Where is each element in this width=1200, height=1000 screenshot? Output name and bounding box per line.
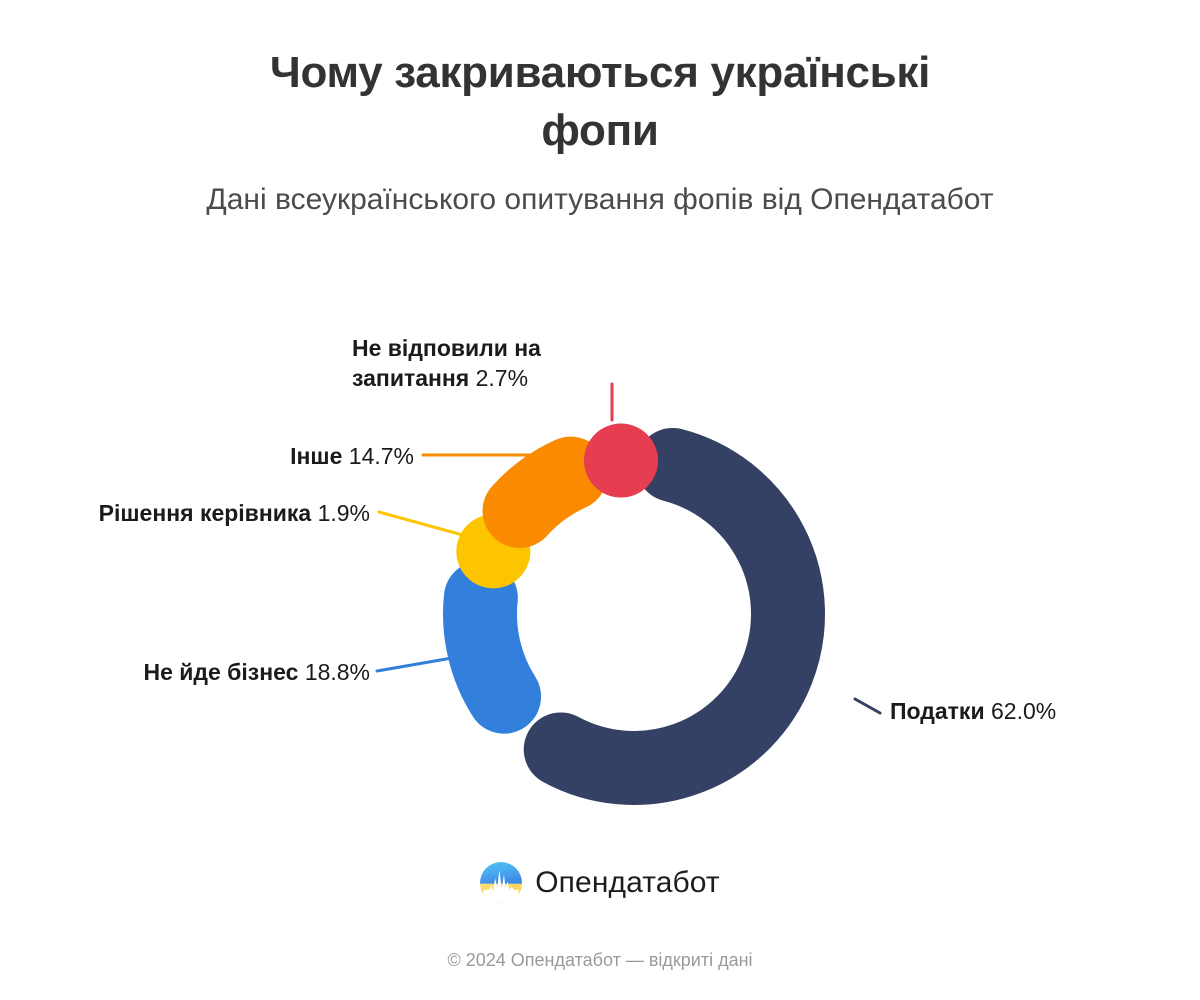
slice-label-taxes-name: Податки: [890, 698, 991, 724]
leader-line-nobiz: [377, 658, 452, 671]
slice-label-taxes-value: 62.0%: [991, 698, 1056, 724]
slice-label-owner: Рішення керівника 1.9%: [18, 498, 370, 528]
slice-label-nobiz-name: Не йде бізнес: [143, 659, 304, 685]
footer-copyright: © 2024 Опендатабот — відкриті дані: [0, 950, 1200, 971]
chart-title: Чому закриваються українські фопи: [220, 44, 980, 160]
slice-label-noanswer: Не відповили на запитання 2.7%: [352, 333, 584, 394]
slice-label-taxes: Податки 62.0%: [890, 696, 1190, 726]
brand-logo-text: Опендатабот: [535, 866, 720, 900]
donut-slice: [561, 465, 788, 768]
leader-line-group: [377, 384, 880, 713]
slice-label-noanswer-value: 2.7%: [476, 365, 528, 391]
slice-label-owner-value: 1.9%: [318, 500, 370, 526]
chart-subtitle: Дані всеукраїнського опитування фопів ві…: [170, 180, 1030, 221]
brand-logo: Опендатабот: [0, 862, 1200, 904]
slice-label-nobiz-value: 18.8%: [305, 659, 370, 685]
donut-slice: [480, 598, 504, 697]
donut-slice: [520, 474, 571, 511]
chart-container: Чому закриваються українські фопи Дані в…: [0, 0, 1200, 1000]
donut-slice-group: [480, 461, 788, 768]
slice-label-other-value: 14.7%: [349, 443, 414, 469]
slice-label-other-name: Інше: [290, 443, 349, 469]
slice-label-nobiz: Не йде бізнес 18.8%: [58, 657, 370, 687]
opendatabot-logo-icon: [480, 862, 522, 904]
title-block: Чому закриваються українські фопи Дані в…: [0, 44, 1200, 221]
leader-line-taxes: [855, 699, 880, 713]
leader-line-other: [423, 455, 565, 472]
slice-label-owner-name: Рішення керівника: [99, 500, 318, 526]
leader-line-owner: [379, 512, 470, 537]
slice-label-other: Інше 14.7%: [150, 441, 414, 471]
